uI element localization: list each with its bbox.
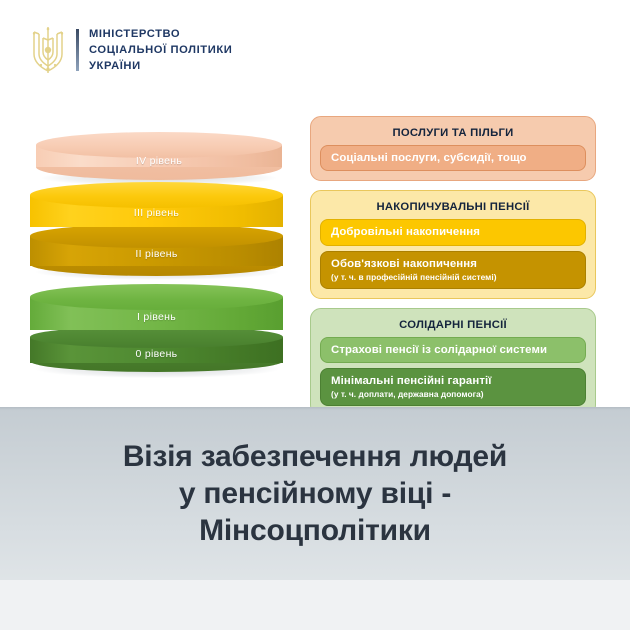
ministry-line-3: УКРАЇНИ	[89, 59, 232, 73]
ministry-line-2: СОЦІАЛЬНОЇ ПОЛІТИКИ	[89, 43, 232, 57]
panel-solidary-pensions-title: СОЛІДАРНІ ПЕНСІЇ	[320, 319, 586, 331]
page-title-line-2: у пенсійному віці -	[123, 475, 507, 512]
item-voluntary-savings[interactable]: Добровільні накопичення	[320, 219, 586, 245]
panel-services-title: ПОСЛУГИ ТА ПІЛЬГИ	[320, 127, 586, 139]
item-voluntary-savings-label: Добровільні накопичення	[331, 225, 575, 239]
title-band: Візія забезпечення людей у пенсійному ві…	[0, 407, 630, 580]
page-title-line-1: Візія забезпечення людей	[123, 438, 507, 475]
page-title: Візія забезпечення людей у пенсійному ві…	[87, 438, 543, 550]
logo-divider	[76, 29, 79, 71]
panel-services[interactable]: ПОСЛУГИ ТА ПІЛЬГИ Соціальні послуги, суб…	[310, 116, 596, 181]
ministry-logo: МІНІСТЕРСТВО СОЦІАЛЬНОЇ ПОЛІТИКИ УКРАЇНИ	[28, 18, 288, 82]
level-iv-top	[36, 132, 282, 158]
panel-funded-pensions-title: НАКОПИЧУВАЛЬНІ ПЕНСІЇ	[320, 201, 586, 213]
level-i-top	[30, 284, 283, 310]
item-minimum-guarantees-sublabel: (у т. ч. доплати, державна допомога)	[331, 389, 575, 400]
pyramid-level-i[interactable]: I рівень	[30, 284, 283, 332]
item-insurance-pensions-label: Страхові пенсії із солідарної системи	[331, 343, 575, 357]
level-iii-top	[30, 182, 283, 208]
item-minimum-guarantees[interactable]: Мінімальні пенсійні гарантії (у т. ч. до…	[320, 368, 586, 406]
pyramid-level-0[interactable]: 0 рівень	[30, 326, 283, 368]
item-mandatory-savings[interactable]: Обов'язкові накопичення (у т. ч. в профе…	[320, 251, 586, 289]
ministry-line-1: МІНІСТЕРСТВО	[89, 27, 232, 41]
panel-solidary-pensions[interactable]: СОЛІДАРНІ ПЕНСІЇ Страхові пенсії із солі…	[310, 308, 596, 416]
item-insurance-pensions[interactable]: Страхові пенсії із солідарної системи	[320, 337, 586, 363]
pension-categories-panels: ПОСЛУГИ ТА ПІЛЬГИ Соціальні послуги, суб…	[310, 116, 596, 425]
item-minimum-guarantees-label: Мінімальні пенсійні гарантії	[331, 374, 575, 388]
item-mandatory-savings-sublabel: (у т. ч. в професійній пенсійній системі…	[331, 272, 575, 283]
item-social-services[interactable]: Соціальні послуги, субсидії, тощо	[320, 145, 586, 171]
pyramid-level-iv[interactable]: IV рівень	[36, 132, 282, 172]
page-title-line-3: Мінсоцполітики	[123, 512, 507, 549]
item-social-services-label: Соціальні послуги, субсидії, тощо	[331, 151, 575, 165]
panel-funded-pensions[interactable]: НАКОПИЧУВАЛЬНІ ПЕНСІЇ Добровільні накопи…	[310, 190, 596, 298]
ministry-name: МІНІСТЕРСТВО СОЦІАЛЬНОЇ ПОЛІТИКИ УКРАЇНИ	[89, 27, 232, 74]
item-mandatory-savings-label: Обов'язкові накопичення	[331, 257, 575, 271]
pension-levels-pyramid: IV рівень II рівень III рівень 0 рівень …	[0, 120, 300, 385]
footer-strip	[0, 580, 630, 630]
ukraine-trident-emblem	[28, 24, 68, 76]
pyramid-level-ii[interactable]: II рівень	[30, 224, 283, 270]
pyramid-level-iii[interactable]: III рівень	[30, 182, 283, 230]
